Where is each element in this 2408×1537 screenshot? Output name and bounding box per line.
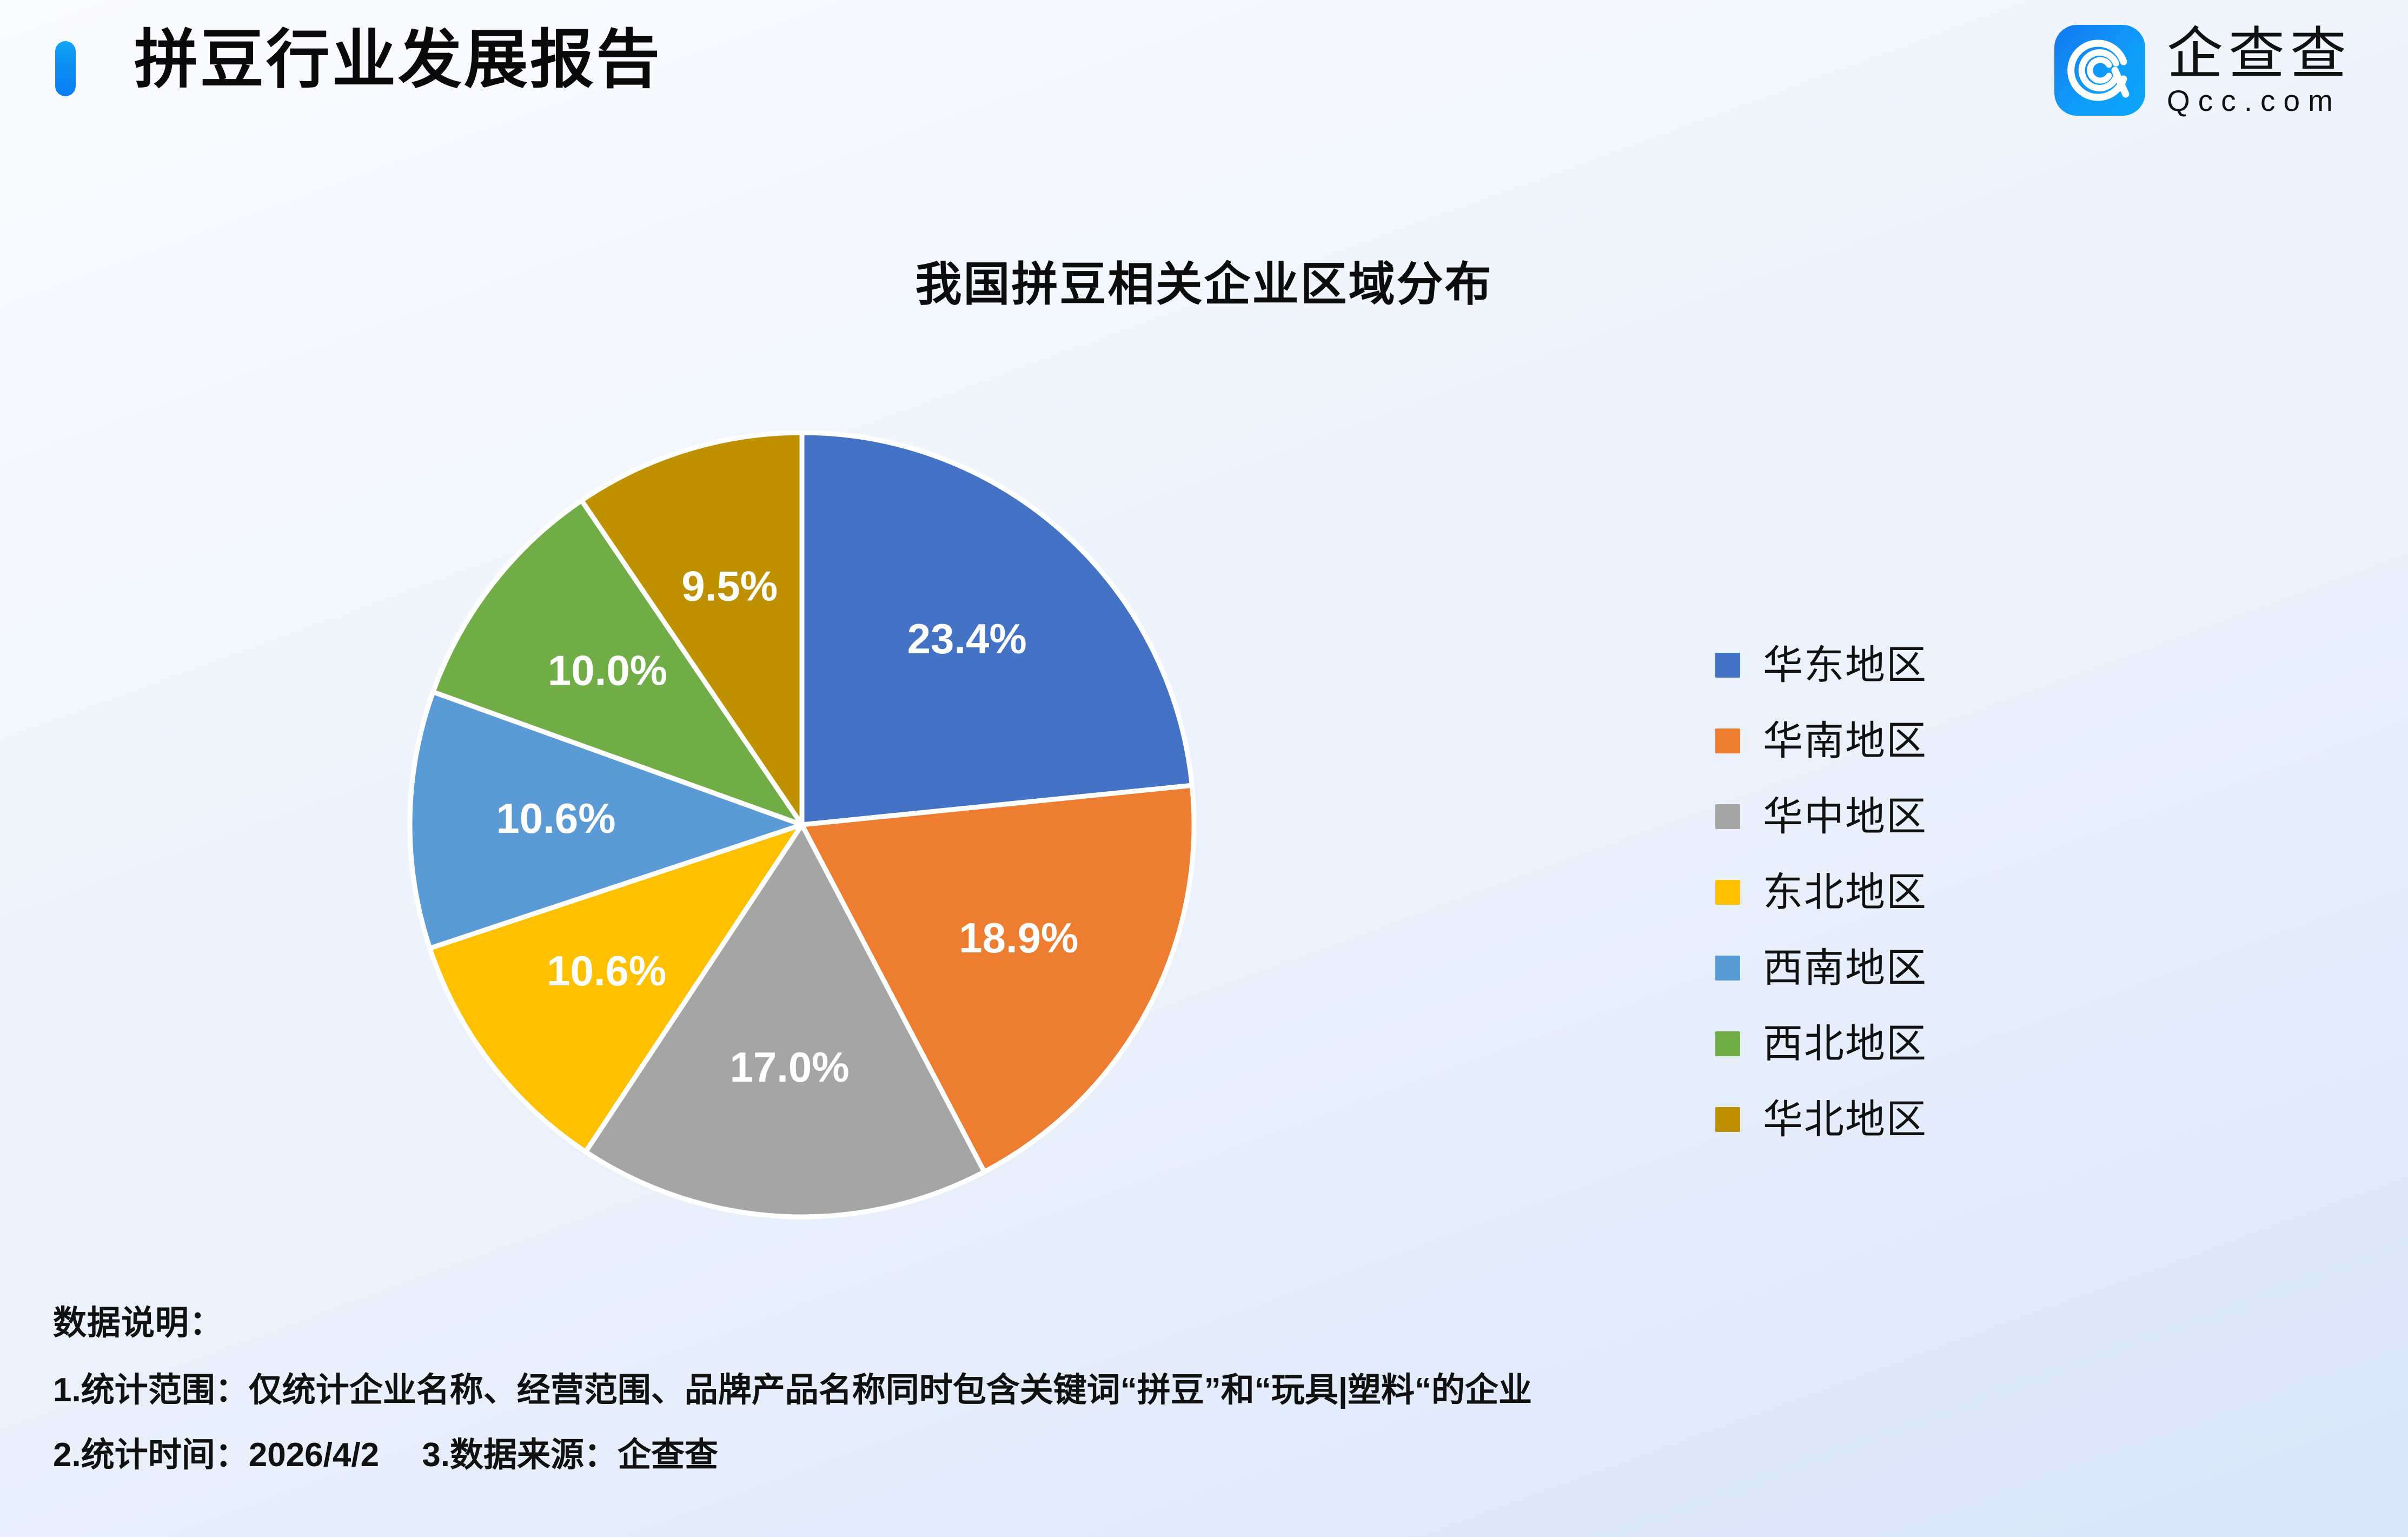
page-title: 拼豆行业发展报告 bbox=[134, 21, 662, 101]
pie-slice-label: 10.6% bbox=[547, 947, 666, 995]
data-notes: 数据说明： 1.统计范围：仅统计企业名称、经营范围、品牌产品名称同时包含关键词“… bbox=[53, 1295, 2270, 1492]
legend-item-label: 华东地区 bbox=[1763, 645, 1927, 685]
note-time-source: 2.统计时间：2026/4/2 3.数据来源：企查查 bbox=[53, 1427, 2270, 1476]
legend-item-label: 华南地区 bbox=[1763, 721, 1927, 761]
legend-swatch bbox=[1715, 728, 1740, 753]
pie-chart-svg: 23.4%18.9%17.0%10.6%10.6%10.0%9.5% bbox=[404, 427, 1199, 1222]
pie-slice-label: 10.6% bbox=[496, 794, 615, 842]
legend-swatch bbox=[1715, 956, 1740, 981]
title-accent-bar bbox=[55, 41, 76, 96]
chart-legend: 华东地区 华南地区 华中地区 东北地区 西南地区 西北地区 华北地区 bbox=[1715, 627, 1927, 1157]
brand-wordmark: 企查查 Qcc.com bbox=[2167, 24, 2352, 117]
pie-slice-label: 23.4% bbox=[907, 615, 1027, 662]
legend-item-label: 华中地区 bbox=[1763, 797, 1927, 837]
brand-domain: Qcc.com bbox=[2167, 85, 2352, 117]
legend-item-dongbei[interactable]: 东北地区 bbox=[1715, 854, 1927, 930]
brand-logo: 企查查 Qcc.com bbox=[2054, 24, 2352, 117]
pie-slice-label: 10.0% bbox=[548, 647, 667, 694]
legend-swatch bbox=[1715, 804, 1740, 829]
brand-name-cn: 企查查 bbox=[2167, 24, 2352, 84]
notes-heading: 数据说明： bbox=[53, 1295, 2270, 1344]
legend-item-label: 西北地区 bbox=[1763, 1024, 1927, 1064]
qcc-spiral-q-icon bbox=[2054, 25, 2145, 116]
legend-item-xibei[interactable]: 西北地区 bbox=[1715, 1006, 1927, 1082]
legend-item-xinan[interactable]: 西南地区 bbox=[1715, 930, 1927, 1006]
legend-swatch bbox=[1715, 1031, 1740, 1056]
chart-title: 我国拼豆相关企业区域分布 bbox=[0, 246, 2408, 314]
legend-item-huabei[interactable]: 华北地区 bbox=[1715, 1082, 1927, 1157]
legend-swatch bbox=[1715, 653, 1740, 678]
note-scope: 1.统计范围：仅统计企业名称、经营范围、品牌产品名称同时包含关键词“拼豆”和“玩… bbox=[53, 1362, 2270, 1411]
legend-item-label: 西南地区 bbox=[1763, 948, 1927, 988]
legend-item-label: 东北地区 bbox=[1763, 872, 1927, 912]
legend-item-huanan[interactable]: 华南地区 bbox=[1715, 703, 1927, 779]
legend-item-huazhong[interactable]: 华中地区 bbox=[1715, 779, 1927, 854]
legend-item-huadong[interactable]: 华东地区 bbox=[1715, 627, 1927, 703]
chart-area: 23.4%18.9%17.0%10.6%10.6%10.0%9.5% 华东地区 … bbox=[0, 411, 2408, 1244]
legend-swatch bbox=[1715, 880, 1740, 905]
legend-item-label: 华北地区 bbox=[1763, 1099, 1927, 1139]
pie-slice-label: 18.9% bbox=[959, 914, 1078, 962]
legend-swatch bbox=[1715, 1107, 1740, 1132]
pie-slice-label: 17.0% bbox=[730, 1043, 850, 1091]
pie-slice-label: 9.5% bbox=[681, 562, 778, 610]
pie-chart: 23.4%18.9%17.0%10.6%10.6%10.0%9.5% bbox=[404, 427, 1199, 1222]
page-header: 拼豆行业发展报告 企查查 Qcc.com bbox=[0, 0, 2408, 195]
